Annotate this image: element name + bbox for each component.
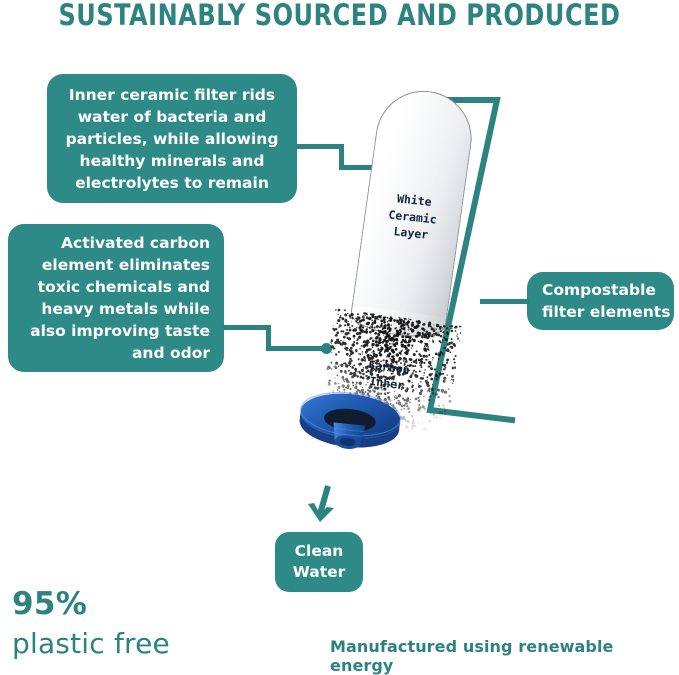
- callout-inner-ceramic-text: Inner ceramic filter rids water of bacte…: [59, 84, 285, 194]
- callout-compostable-elements-text: Compostable filter elements: [542, 279, 674, 323]
- connector-carbon-segment-3: [266, 346, 326, 351]
- blue-filter-cap: [293, 385, 405, 473]
- connector-compostable-stub: [480, 299, 530, 304]
- plastic-free-caption: plastic free: [12, 627, 170, 660]
- connector-ceramic-segment-1: [296, 144, 344, 149]
- infographic-canvas: SUSTAINABLY SOURCED AND PRODUCED Inner c…: [0, 0, 679, 663]
- page-title: SUSTAINABLY SOURCED AND PRODUCED: [27, 0, 652, 32]
- callout-activated-carbon-text: Activated carbon element eliminates toxi…: [18, 232, 210, 364]
- connector-carbon-segment-1: [223, 325, 271, 330]
- callout-inner-ceramic: Inner ceramic filter rids water of bacte…: [47, 74, 297, 203]
- callout-clean-water-text: Clean Water: [275, 541, 363, 583]
- flow-arrow-down-icon: [300, 484, 346, 526]
- callout-activated-carbon: Activated carbon element eliminates toxi…: [8, 224, 224, 372]
- plastic-free-percent: 95%: [12, 586, 87, 622]
- renewable-energy-note: Manufactured using renewable energy: [330, 637, 679, 675]
- ceramic-layer-label: White Ceramic Layer: [362, 187, 463, 247]
- callout-clean-water: Clean Water: [275, 532, 363, 592]
